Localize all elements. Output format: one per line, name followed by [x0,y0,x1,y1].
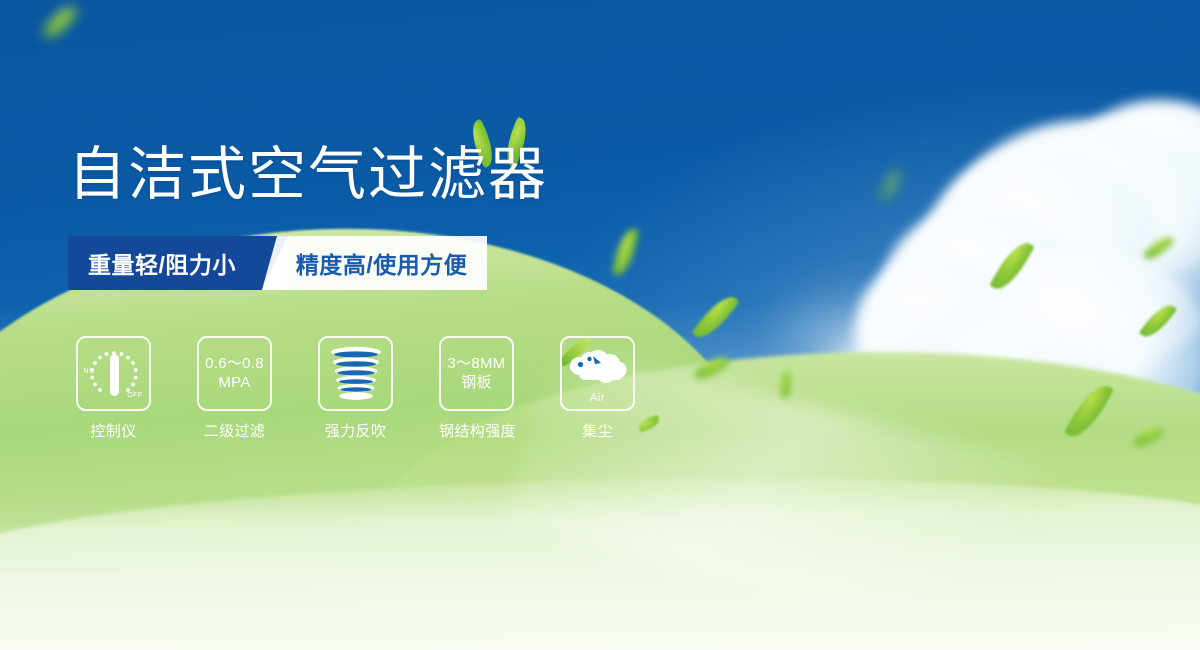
feature-icon-box: NO OFF [76,336,151,411]
feature-icon-box: 3～8MM 钢板 [439,336,514,411]
feature-icon-box: Air [560,336,635,411]
feature-item-blowback[interactable]: 强力反吹 [318,336,393,441]
feature-label: 钢结构强度 [439,420,514,441]
filter-coil-icon [329,345,383,403]
feature-label: 二级过滤 [197,420,272,441]
gauge-needle [110,354,119,396]
feature-label: 控制仪 [76,420,151,441]
control-gauge-icon: NO OFF [83,344,145,404]
feature-item-steel[interactable]: 3～8MM 钢板 钢结构强度 [439,336,514,441]
badge-secondary: 精度高/使用方便 [288,236,487,290]
feature-item-control[interactable]: NO OFF 控制仪 [76,336,151,441]
cloud-air-label: Air [565,392,631,404]
badge-primary: 重量轻/阻力小 [68,236,262,290]
feature-icon-box [318,336,393,411]
feature-label: 集尘 [560,420,635,441]
feature-icon-box: 0.6～0.8 MPA [197,336,272,411]
gauge-label-off: OFF [127,392,142,399]
cloud-air-icon: Air [565,345,631,403]
page-title: 自洁式空气过滤器 [68,146,548,204]
pressure-text-icon: 0.6～0.8 MPA [205,355,264,392]
badge-secondary-label: 精度高/使用方便 [296,246,467,280]
badge-divider [262,236,288,290]
hero-banner: 自洁式空气过滤器 重量轻/阻力小 精度高/使用方便 [0,0,1200,650]
tagline-badges: 重量轻/阻力小 精度高/使用方便 [68,236,487,290]
badge-primary-label: 重量轻/阻力小 [88,246,236,280]
feature-item-filter[interactable]: 0.6～0.8 MPA 二级过滤 [197,336,272,441]
feature-item-dust[interactable]: Air 集尘 [560,336,635,441]
gauge-label-no: NO [84,368,95,375]
steel-plate-text-icon: 3～8MM 钢板 [447,355,505,392]
feature-label: 强力反吹 [318,420,393,441]
feature-list: NO OFF 控制仪 0.6～0.8 MPA 二级过滤 [76,336,635,441]
leaf-icon [637,415,661,432]
banner-content: 自洁式空气过滤器 重量轻/阻力小 精度高/使用方便 [0,0,1200,650]
